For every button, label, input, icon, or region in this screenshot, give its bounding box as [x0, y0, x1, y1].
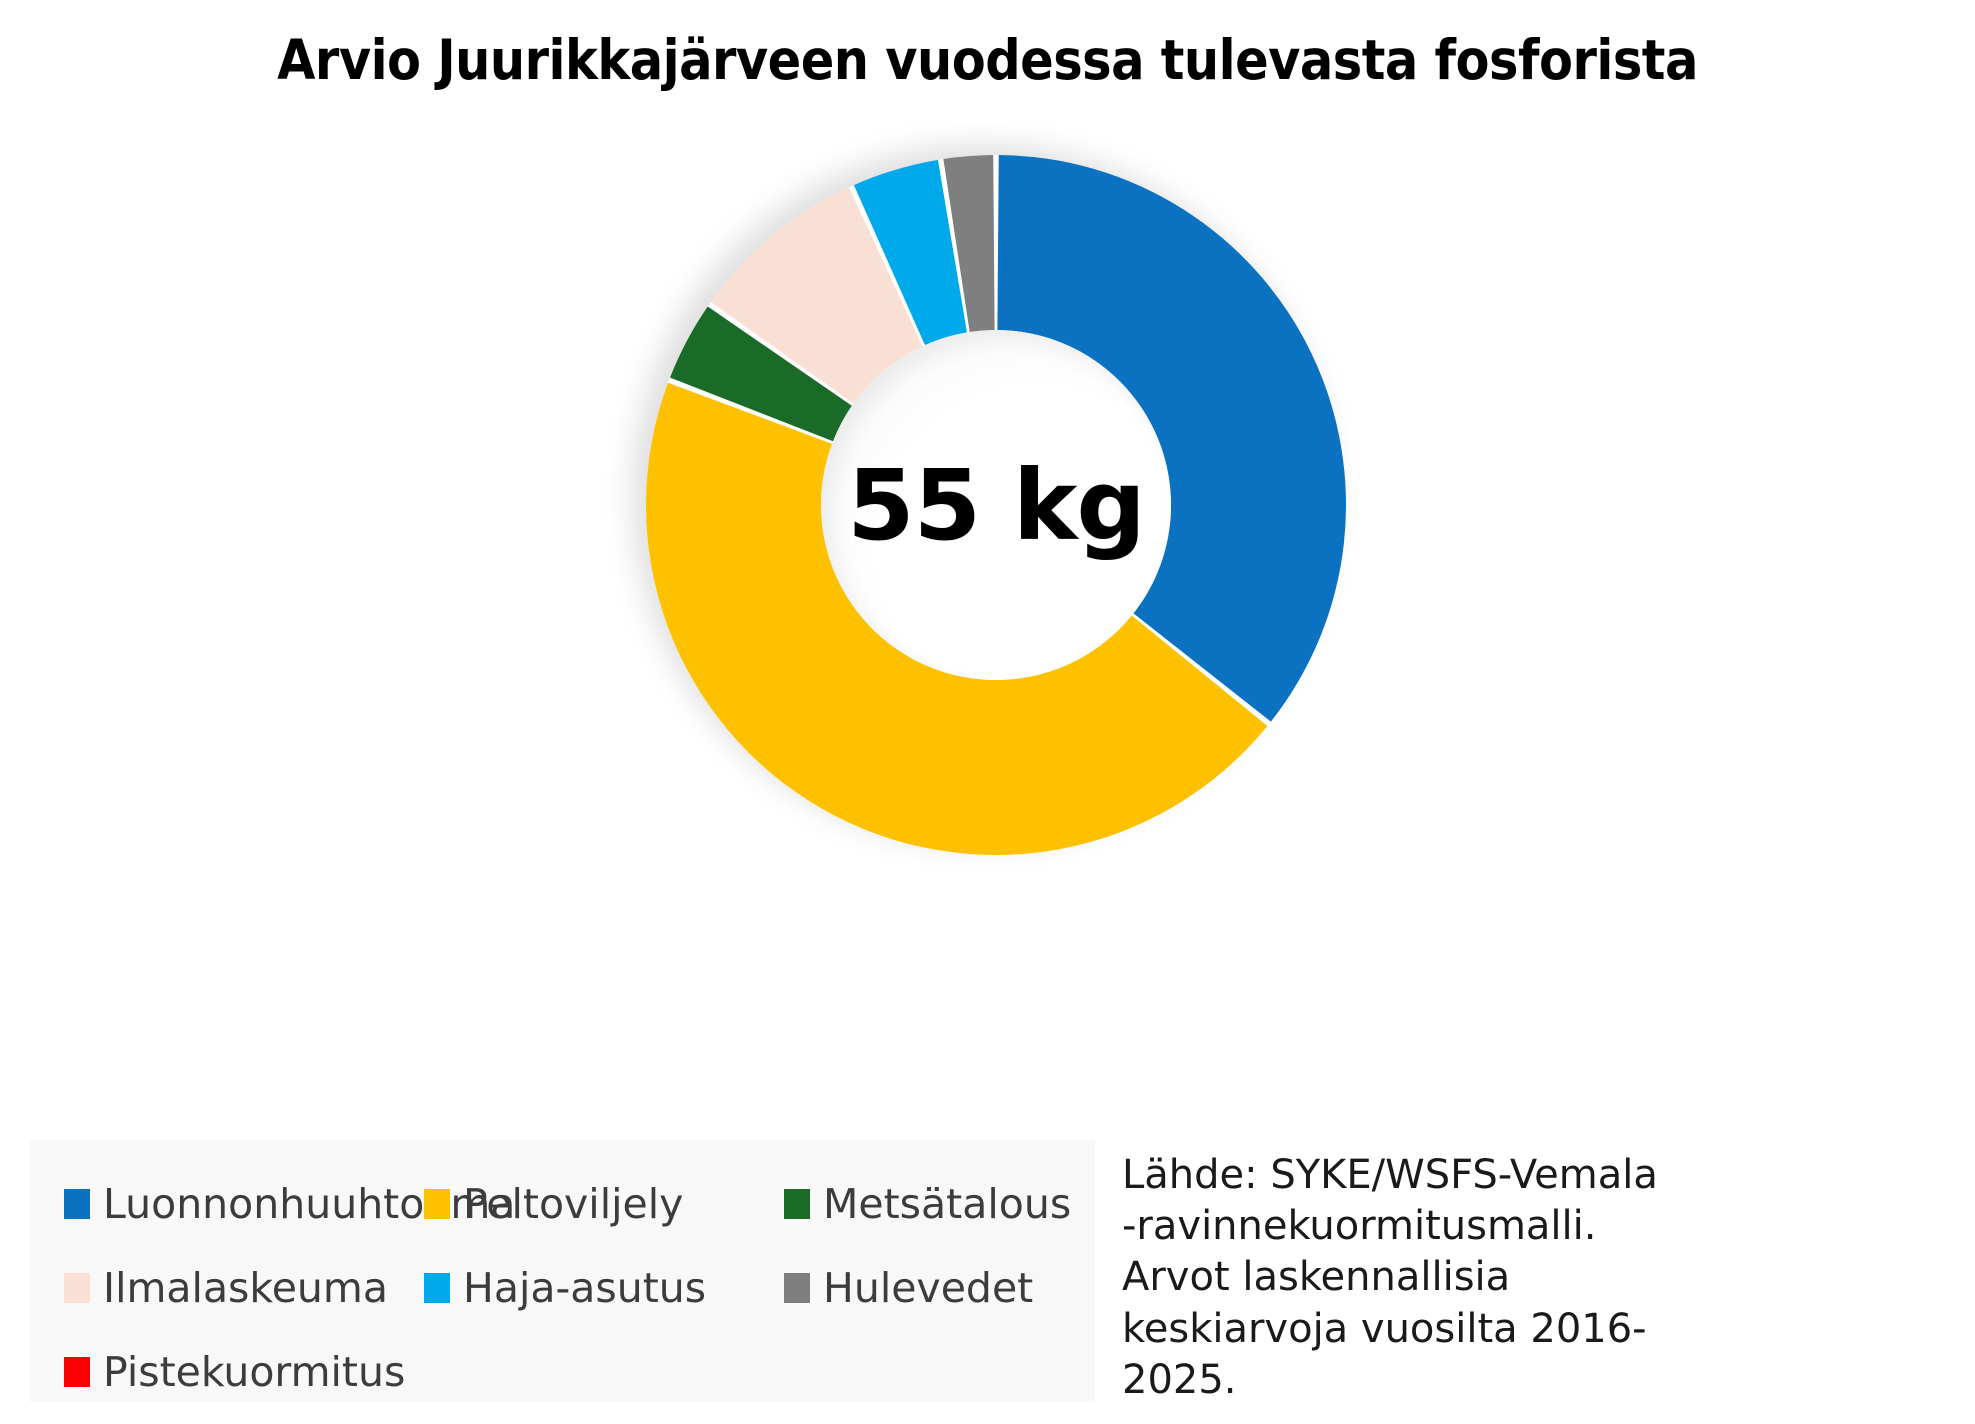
legend-swatch-icon	[784, 1273, 810, 1303]
legend-item-label: Pistekuormitus	[103, 1348, 405, 1396]
legend-item-pistekuormitus[interactable]: Pistekuormitus	[64, 1348, 424, 1396]
legend-item-label: Ilmalaskeuma	[103, 1264, 388, 1312]
legend-item-haja-asutus[interactable]: Haja-asutus	[424, 1264, 784, 1312]
legend-swatch-icon	[784, 1189, 810, 1219]
source-line-3: Arvot laskennallisia	[1122, 1252, 1922, 1303]
legend-item-peltoviljely[interactable]: Peltoviljely	[424, 1180, 784, 1228]
source-line-4: keskiarvoja vuosilta 2016-	[1122, 1304, 1922, 1355]
source-line-1: Lähde: SYKE/WSFS-Vemala	[1122, 1150, 1922, 1201]
legend-item-label: Metsätalous	[823, 1180, 1071, 1228]
legend-item-metsätalous[interactable]: Metsätalous	[784, 1180, 1084, 1228]
legend-item-label: Peltoviljely	[463, 1180, 683, 1228]
legend-item-label: Hulevedet	[823, 1264, 1033, 1312]
donut-chart: 55 kg	[646, 155, 1346, 855]
donut-center-value: 55 kg	[847, 457, 1145, 554]
legend-swatch-icon	[424, 1273, 450, 1303]
legend-item-luonnonhuuhtouma[interactable]: Luonnonhuuhtouma	[64, 1180, 424, 1228]
legend-swatch-icon	[64, 1357, 90, 1387]
legend-item-ilmalaskeuma[interactable]: Ilmalaskeuma	[64, 1264, 424, 1312]
source-line-5: 2025.	[1122, 1355, 1922, 1406]
page-title: Arvio Juurikkajärveen vuodessa tulevasta…	[0, 28, 1975, 92]
donut-center-hole: 55 kg	[821, 330, 1171, 680]
legend-swatch-icon	[64, 1273, 90, 1303]
legend-item-label: Haja-asutus	[463, 1264, 706, 1312]
chart-legend: LuonnonhuuhtoumaPeltoviljelyMetsätalousI…	[30, 1140, 1095, 1402]
legend-swatch-icon	[424, 1189, 450, 1219]
legend-swatch-icon	[64, 1189, 90, 1219]
legend-item-hulevedet[interactable]: Hulevedet	[784, 1264, 1084, 1312]
source-line-2: -ravinnekuormitusmalli.	[1122, 1201, 1922, 1252]
source-note: Lähde: SYKE/WSFS-Vemala -ravinnekuormitu…	[1122, 1150, 1922, 1406]
